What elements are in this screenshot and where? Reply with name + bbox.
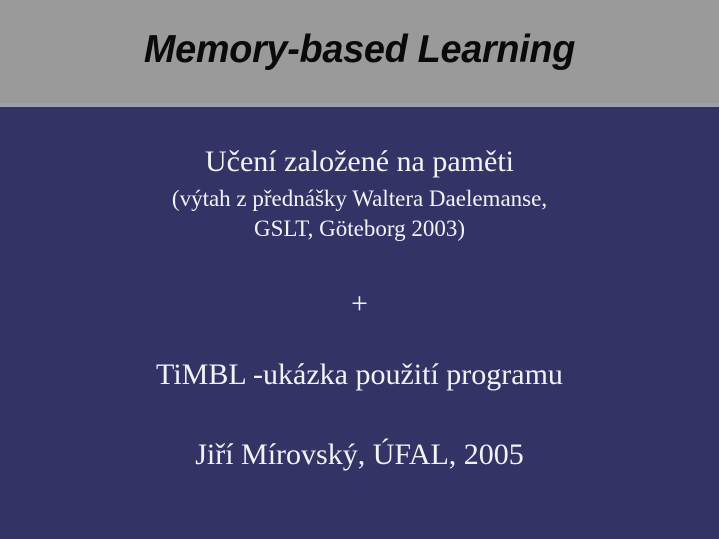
- body-author-line: Jiří Mírovský, ÚFAL, 2005: [0, 438, 719, 472]
- body-source-line-2: GSLT, Göteborg 2003): [0, 215, 719, 242]
- presentation-slide: Memory-based Learning Učení založené na …: [0, 0, 719, 539]
- slide-title: Memory-based Learning: [11, 28, 708, 72]
- slide-body: Učení založené na paměti (výtah z předná…: [0, 107, 719, 539]
- body-source-line-1: (výtah z přednášky Waltera Daelemanse,: [0, 185, 719, 212]
- body-demo-line: TiMBL -ukázka použití programu: [0, 358, 719, 392]
- body-heading: Učení založené na paměti: [0, 145, 719, 179]
- body-plus-separator: +: [0, 287, 719, 321]
- slide-title-band: Memory-based Learning: [0, 0, 719, 103]
